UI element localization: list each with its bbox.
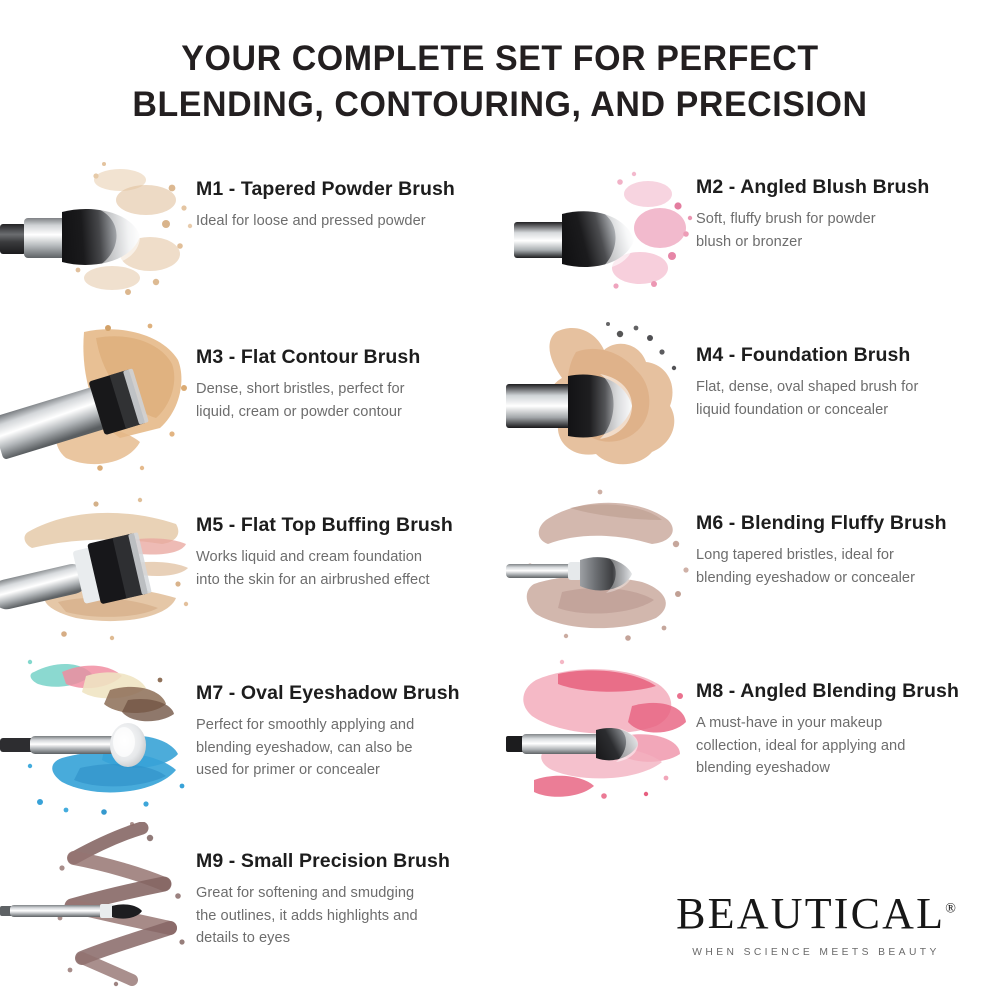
flat-top-buffing-brush-icon	[0, 486, 196, 654]
brand-tagline: When Science Meets Beauty	[666, 947, 966, 958]
product-card-m8: M8 - Angled Blending Brush A must-have i…	[500, 654, 1000, 822]
product-name: M4 - Foundation Brush	[696, 344, 986, 367]
product-card-m4: M4 - Foundation Brush Flat, dense, oval …	[500, 318, 1000, 486]
product-row: M1 - Tapered Powder Brush Ideal for loos…	[0, 150, 1000, 318]
small-precision-brush-icon	[0, 822, 196, 990]
product-name: M8 - Angled Blending Brush	[696, 680, 986, 703]
product-card-m7: M7 - Oval Eyeshadow Brush Perfect for sm…	[0, 654, 500, 822]
product-name: M2 - Angled Blush Brush	[696, 176, 986, 199]
foundation-brush-icon	[500, 318, 696, 486]
product-text-m3: M3 - Flat Contour Brush Dense, short bri…	[196, 318, 500, 423]
product-text-m9: M9 - Small Precision Brush Great for sof…	[196, 822, 500, 949]
product-card-m2: M2 - Angled Blush Brush Soft, fluffy bru…	[500, 150, 1000, 318]
product-name: M1 - Tapered Powder Brush	[196, 178, 486, 201]
product-name: M6 - Blending Fluffy Brush	[696, 512, 986, 535]
brand-name-text: BEAUTICAL	[676, 889, 945, 938]
product-text-m1: M1 - Tapered Powder Brush Ideal for loos…	[196, 150, 500, 233]
product-card-m5: M5 - Flat Top Buffing Brush Works liquid…	[0, 486, 500, 654]
blending-fluffy-brush-icon	[500, 486, 696, 654]
product-description: Flat, dense, oval shaped brush for liqui…	[696, 376, 958, 420]
product-row: M3 - Flat Contour Brush Dense, short bri…	[0, 318, 1000, 486]
flat-contour-brush-icon	[0, 318, 196, 486]
product-text-m2: M2 - Angled Blush Brush Soft, fluffy bru…	[696, 150, 1000, 253]
product-text-m6: M6 - Blending Fluffy Brush Long tapered …	[696, 486, 1000, 589]
product-description: Works liquid and cream foundation into t…	[196, 546, 464, 590]
product-description: Great for softening and smudging the out…	[196, 882, 464, 949]
registered-trademark-icon: ®	[945, 901, 956, 916]
page-title: YOUR COMPLETE SET FOR PERFECT BLENDING, …	[0, 0, 1000, 127]
product-text-m5: M5 - Flat Top Buffing Brush Works liquid…	[196, 486, 500, 591]
product-description: Soft, fluffy brush for powder blush or b…	[696, 208, 958, 252]
brand-name: BEAUTICAL®	[676, 892, 956, 936]
product-card-m9: M9 - Small Precision Brush Great for sof…	[0, 822, 500, 992]
page-title-line-2: BLENDING, CONTOURING, AND PRECISION	[15, 82, 985, 128]
product-description: Long tapered bristles, ideal for blendin…	[696, 544, 958, 588]
brand-logo: BEAUTICAL® When Science Meets Beauty	[666, 892, 966, 958]
product-grid: M1 - Tapered Powder Brush Ideal for loos…	[0, 150, 1000, 992]
product-text-m4: M4 - Foundation Brush Flat, dense, oval …	[696, 318, 1000, 421]
product-card-m1: M1 - Tapered Powder Brush Ideal for loos…	[0, 150, 500, 318]
oval-eyeshadow-brush-icon	[0, 654, 196, 822]
angled-blending-brush-icon	[500, 654, 696, 822]
product-card-m3: M3 - Flat Contour Brush Dense, short bri…	[0, 318, 500, 486]
product-name: M5 - Flat Top Buffing Brush	[196, 514, 486, 537]
product-description: Perfect for smoothly applying and blendi…	[196, 714, 464, 781]
product-name: M3 - Flat Contour Brush	[196, 346, 486, 369]
product-name: M7 - Oval Eyeshadow Brush	[196, 682, 486, 705]
product-row: M5 - Flat Top Buffing Brush Works liquid…	[0, 486, 1000, 654]
product-text-m7: M7 - Oval Eyeshadow Brush Perfect for sm…	[196, 654, 500, 781]
product-description: Dense, short bristles, perfect for liqui…	[196, 378, 464, 422]
product-card-m6: M6 - Blending Fluffy Brush Long tapered …	[500, 486, 1000, 654]
product-description: Ideal for loose and pressed powder	[196, 210, 464, 232]
product-name: M9 - Small Precision Brush	[196, 850, 486, 873]
page-title-line-1: YOUR COMPLETE SET FOR PERFECT	[15, 36, 985, 82]
product-text-m8: M8 - Angled Blending Brush A must-have i…	[696, 654, 1000, 779]
angled-blush-brush-icon	[500, 150, 696, 318]
tapered-powder-brush-icon	[0, 150, 196, 318]
product-description: A must-have in your makeup collection, i…	[696, 712, 958, 779]
product-row: M7 - Oval Eyeshadow Brush Perfect for sm…	[0, 654, 1000, 822]
